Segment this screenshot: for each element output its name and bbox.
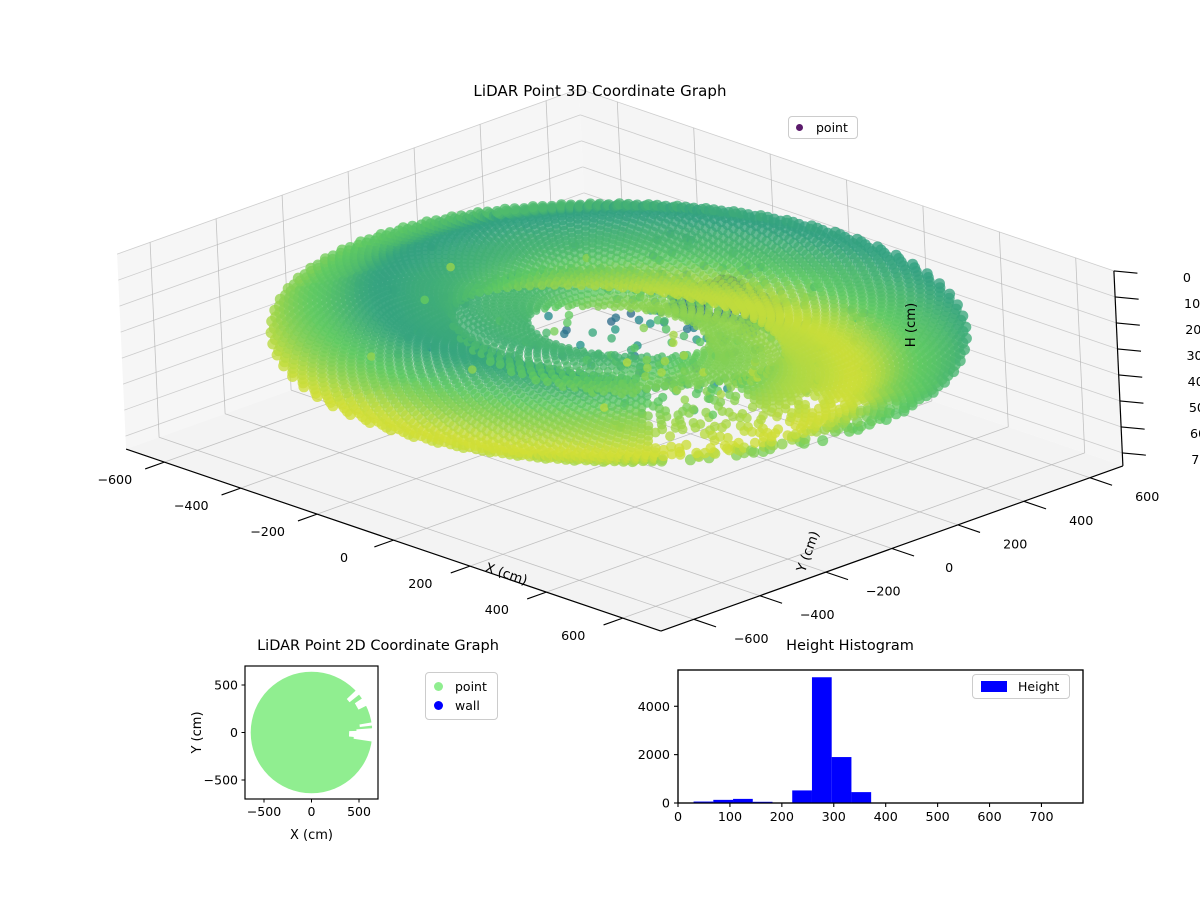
legend-label-point: point [816, 120, 848, 135]
plot2d-title: LiDAR Point 2D Coordinate Graph [208, 638, 548, 654]
legend-entry-point: point [434, 677, 487, 696]
legend-entry-wall: wall [434, 696, 487, 715]
point-marker-icon [796, 124, 803, 131]
histogram-canvas: 0100200300400500600700020004000 [600, 632, 1140, 882]
legend-entry-point: point [796, 120, 848, 135]
legend-label-wall: wall [455, 698, 480, 713]
height-swatch-icon [981, 681, 1007, 692]
legend-label-point: point [455, 679, 487, 694]
lidar-2d-panel: LiDAR Point 2D Coordinate Graph point wa… [150, 632, 570, 892]
point-marker-icon [434, 682, 443, 691]
plot3d-title: LiDAR Point 3D Coordinate Graph [0, 82, 1200, 100]
lidar-3d-panel: LiDAR Point 3D Coordinate Graph point −6… [0, 0, 1200, 640]
wall-marker-icon [434, 701, 443, 710]
plot3d-legend: point [788, 116, 858, 139]
histogram-legend: Height [972, 674, 1070, 699]
height-histogram-panel: Height Histogram Height 0100200300400500… [600, 632, 1140, 892]
histogram-title: Height Histogram [600, 638, 1100, 654]
plot2d-legend: point wall [425, 672, 498, 720]
plot2d-canvas: −500−50000500500X (cm)Y (cm) [150, 632, 570, 882]
legend-label-height: Height [1018, 679, 1059, 694]
